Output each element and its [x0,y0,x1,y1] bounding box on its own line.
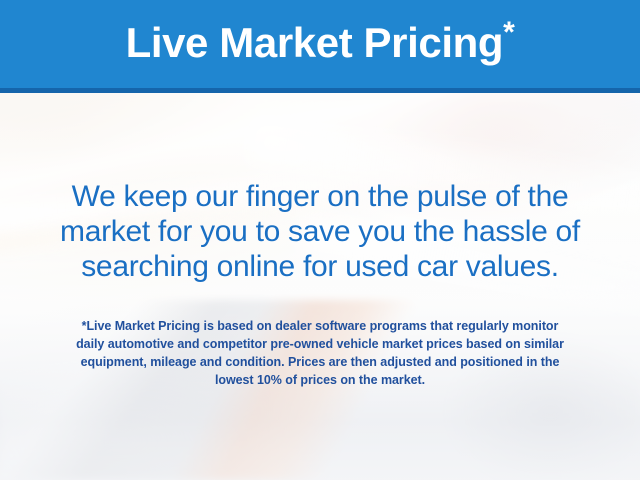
live-market-pricing-banner: Live Market Pricing* We keep our finger … [0,0,640,480]
header-bar: Live Market Pricing* [0,0,640,88]
disclaimer-line: lowest 10% of prices on the market. [24,371,616,389]
headline: We keep our finger on the pulse of the m… [20,179,620,284]
page-title: Live Market Pricing* [126,22,515,64]
headline-line: searching online for used car values. [20,249,620,284]
page-title-text: Live Market Pricing [126,19,504,66]
headline-line: market for you to save you the hassle of [20,214,620,249]
headline-line: We keep our finger on the pulse of the [20,179,620,214]
disclaimer-footnote: *Live Market Pricing is based on dealer … [24,317,616,389]
content-area: We keep our finger on the pulse of the m… [0,93,640,480]
page-title-asterisk: * [503,16,514,49]
disclaimer-line: equipment, mileage and condition. Prices… [24,353,616,371]
disclaimer-line: daily automotive and competitor pre-owne… [24,335,616,353]
disclaimer-line: *Live Market Pricing is based on dealer … [24,317,616,335]
